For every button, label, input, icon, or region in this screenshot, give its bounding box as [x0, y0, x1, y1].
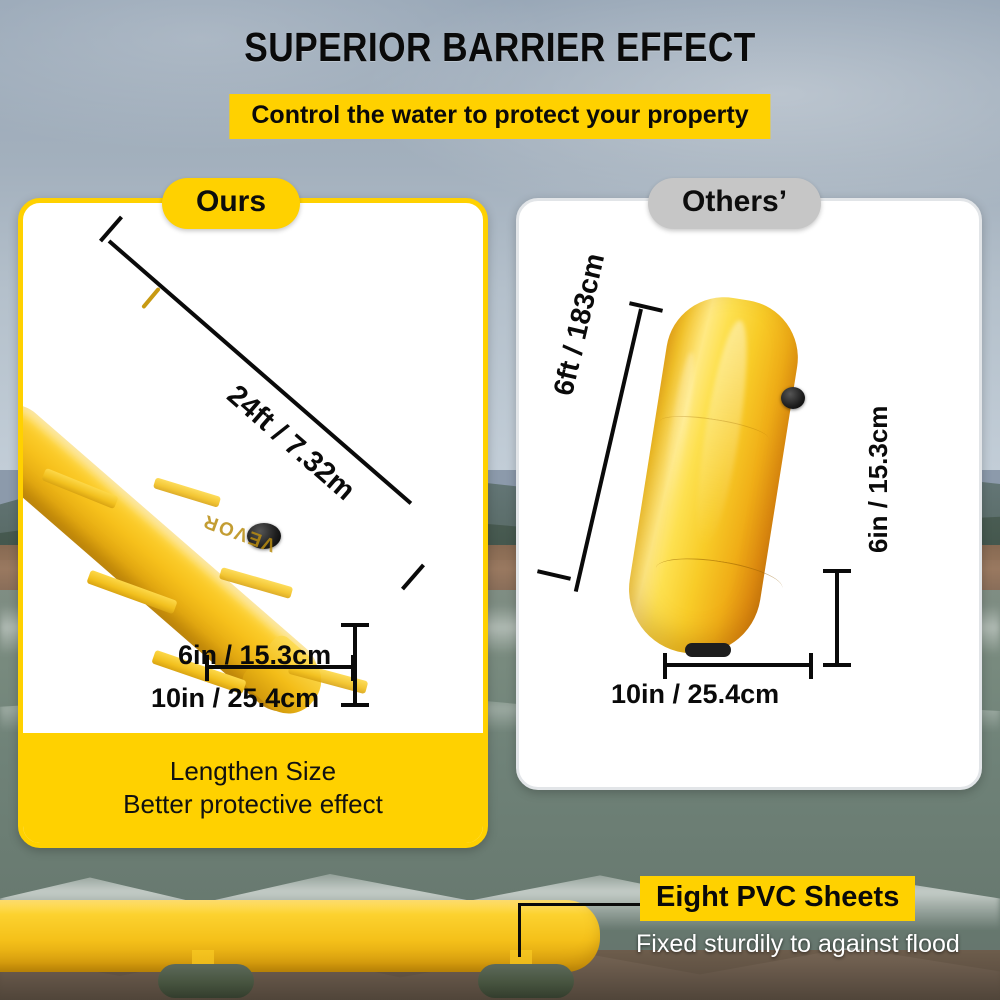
- badge-ours: Ours: [162, 178, 300, 229]
- width-dim-tick-right-others: [809, 653, 813, 679]
- callout-leader-vertical: [518, 903, 521, 957]
- width-dim-label-ours: 10in / 25.4cm: [151, 683, 319, 714]
- brand-logo-vevor: VEVOR: [200, 509, 279, 556]
- callout-leader-horizontal: [518, 903, 642, 906]
- anchor-weight-2: [478, 964, 574, 998]
- footer-line-2: Better protective effect: [123, 789, 383, 820]
- bottom-fitting: [685, 643, 731, 657]
- height-dim-tick-bottom-others: [823, 663, 851, 667]
- card-footer-ours: Lengthen Size Better protective effect: [23, 733, 483, 843]
- badge-others: Others’: [648, 178, 821, 229]
- width-dim-bar-others: [663, 663, 813, 667]
- page-subtitle: Control the water to protect your proper…: [229, 94, 770, 139]
- width-dim-tick-right: [351, 655, 355, 681]
- zipper-detail: [141, 287, 161, 309]
- height-dim-tick-top: [341, 623, 369, 627]
- pvc-callout-badge: Eight PVC Sheets: [640, 876, 915, 921]
- page-title: SUPERIOR BARRIER EFFECT: [70, 24, 930, 71]
- width-dim-label-others: 10in / 25.4cm: [611, 679, 779, 710]
- pvc-callout-caption: Fixed sturdily to against flood: [636, 930, 960, 959]
- comparison-card-others: 6ft / 183cm 6in / 15.3cm 10in / 25.4cm: [516, 198, 982, 790]
- air-valve-others: [781, 387, 805, 409]
- footer-line-1: Lengthen Size: [170, 756, 336, 787]
- comparison-card-ours: VEVOR 24ft / 7.32m 6in / 15.3cm 10in / 2…: [18, 198, 488, 848]
- width-dim-tick-left-others: [663, 653, 667, 679]
- height-dim-label-others: 6in / 15.3cm: [863, 406, 894, 553]
- width-dim-bar-ours: [205, 665, 355, 669]
- height-dim-line-others: [835, 569, 839, 667]
- pvc-flap-right-1: [153, 477, 221, 507]
- height-dim-tick-bottom: [341, 703, 369, 707]
- height-dim-tick-top-others: [823, 569, 851, 573]
- anchor-weight-1: [158, 964, 254, 998]
- width-dim-tick-left: [205, 655, 209, 681]
